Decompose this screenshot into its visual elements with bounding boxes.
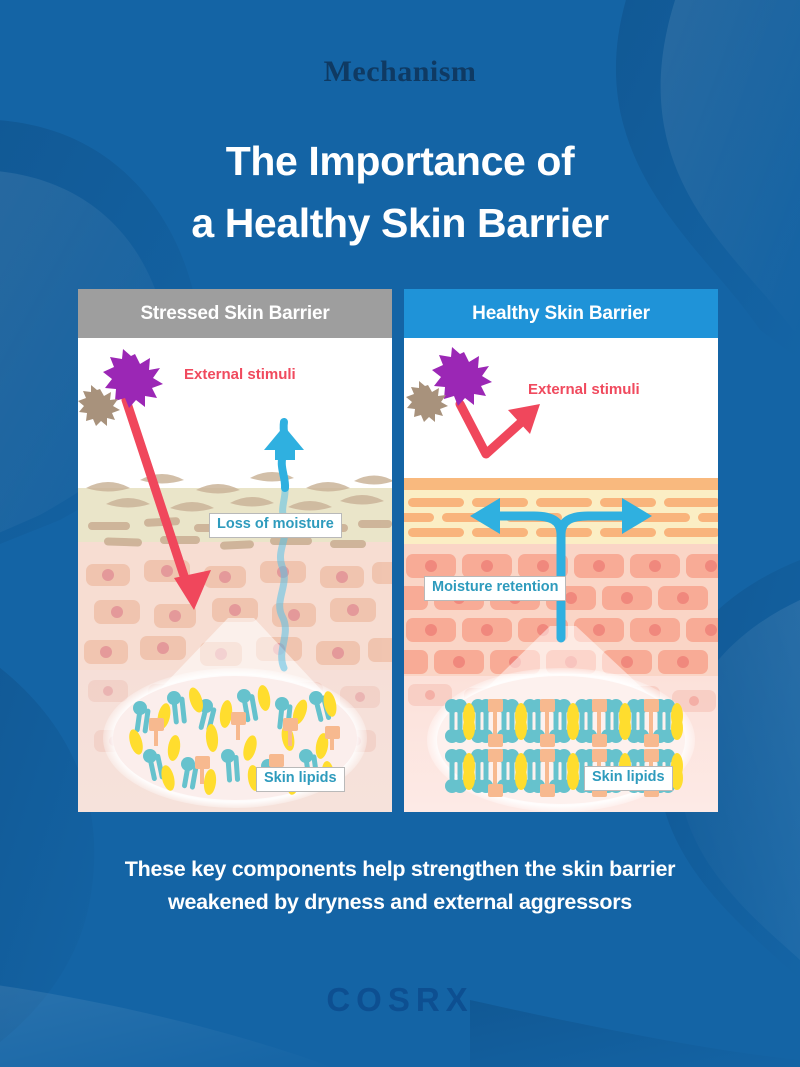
panel-healthy-title: Healthy Skin Barrier (472, 303, 650, 325)
stressed-skin-illustration (78, 338, 392, 812)
page-title: The Importance of a Healthy Skin Barrier (0, 131, 800, 254)
page-title-line1: The Importance of (226, 138, 575, 184)
footer-note-line2: weakened by dryness and external aggress… (0, 886, 800, 919)
eyebrow-label: Mechanism (0, 55, 800, 89)
moisture-retention-callout: Moisture retention (424, 576, 566, 601)
brand-logo: COSRX (0, 981, 800, 1019)
infographic-page: Mechanism The Importance of a Healthy Sk… (0, 0, 800, 1067)
panel-stressed-header: Stressed Skin Barrier (78, 289, 392, 338)
healthy-skin-illustration (404, 338, 718, 812)
panel-healthy-body: External stimuli Moisture retention Skin… (404, 338, 718, 812)
panel-stressed-skin-barrier: Stressed Skin Barrier (78, 289, 392, 812)
panel-healthy-header: Healthy Skin Barrier (404, 289, 718, 338)
panel-healthy-skin-barrier: Healthy Skin Barrier (404, 289, 718, 812)
loss-of-moisture-callout: Loss of moisture (209, 513, 342, 538)
stressed-skin-lipids-callout: Skin lipids (256, 767, 345, 792)
panel-stressed-body: External stimuli Loss of moisture Skin l… (78, 338, 392, 812)
panel-stressed-title: Stressed Skin Barrier (140, 303, 329, 325)
page-title-line2: a Healthy Skin Barrier (0, 193, 800, 255)
footer-note: These key components help strengthen the… (0, 853, 800, 920)
stressed-external-stimuli-label: External stimuli (184, 366, 296, 383)
healthy-skin-lipids-callout: Skin lipids (584, 766, 673, 791)
healthy-external-stimuli-label: External stimuli (528, 381, 640, 398)
footer-note-line1: These key components help strengthen the… (125, 857, 675, 881)
